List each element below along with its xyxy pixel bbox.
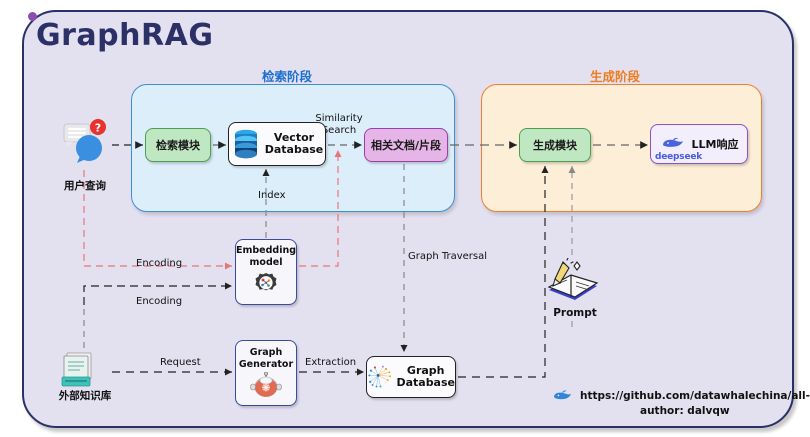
node-retrieval-module-label: 检索模块 — [156, 137, 200, 153]
diagram-canvas: GraphRAG 检索阶段 生成阶段 — [0, 0, 810, 437]
graph-db-line2: Database — [396, 377, 455, 389]
whale-icon — [552, 388, 576, 404]
node-vector-database-label: Vector Database — [265, 132, 324, 157]
edge-label-encoding-kb: Encoding — [136, 296, 182, 307]
deepseek-brand-label: deepseek — [655, 152, 702, 162]
edge-label-graph-traversal: Graph Traversal — [408, 251, 487, 262]
chat-question-icon: ? — [62, 118, 112, 164]
node-retrieval-module[interactable]: 检索模块 — [145, 128, 211, 162]
node-graph-database[interactable]: Graph Database — [366, 356, 456, 398]
node-relevant-documents-label: 相关文档/片段 — [371, 137, 441, 153]
node-vector-database[interactable]: Vector Database — [228, 122, 326, 166]
footer-author: author: dalvqw — [640, 405, 730, 417]
node-graph-generator[interactable]: Graph Generator — [235, 340, 297, 406]
node-llm-response-label: LLM响应 — [692, 136, 739, 152]
node-generation-module[interactable]: 生成模块 — [519, 128, 591, 162]
node-graph-database-label: Graph Database — [396, 365, 455, 390]
node-llm-response[interactable]: LLM响应 deepseek — [650, 124, 748, 164]
documents-folder-icon — [58, 350, 102, 392]
retrieval-phase-title: 检索阶段 — [262, 66, 312, 85]
node-graph-icon — [367, 361, 392, 393]
edge-label-index: Index — [258, 190, 286, 201]
edge-label-extraction: Extraction — [305, 357, 356, 368]
deepseek-whale-icon — [660, 135, 686, 153]
node-relevant-documents[interactable]: 相关文档/片段 — [364, 128, 448, 162]
gear-network-icon — [251, 270, 281, 298]
caption-prompt: Prompt — [530, 307, 620, 319]
database-cylinder-icon — [231, 128, 261, 160]
node-generation-module-label: 生成模块 — [533, 137, 577, 153]
caption-user-query: 用户查询 — [40, 178, 130, 193]
caption-knowledge-base: 外部知识库 — [30, 388, 140, 403]
robot-icon — [249, 372, 283, 398]
node-embedding-model[interactable]: Embedding model — [235, 239, 297, 305]
embedding-model-line1: Embedding — [236, 246, 296, 257]
graph-generator-line1: Graph — [250, 348, 282, 359]
book-pencil-icon — [543, 258, 603, 306]
edge-label-request: Request — [160, 357, 201, 368]
embedding-model-line2: model — [250, 258, 283, 269]
page-title: GraphRAG — [36, 18, 213, 53]
edge-label-encoding-query: Encoding — [136, 258, 182, 269]
generation-phase-title: 生成阶段 — [590, 66, 640, 85]
graph-generator-line2: Generator — [239, 360, 293, 371]
vector-db-line2: Database — [265, 144, 324, 156]
footer-repo-url[interactable]: https://github.com/datawhalechina/all-in… — [580, 390, 810, 402]
svg-text:?: ? — [95, 122, 101, 135]
